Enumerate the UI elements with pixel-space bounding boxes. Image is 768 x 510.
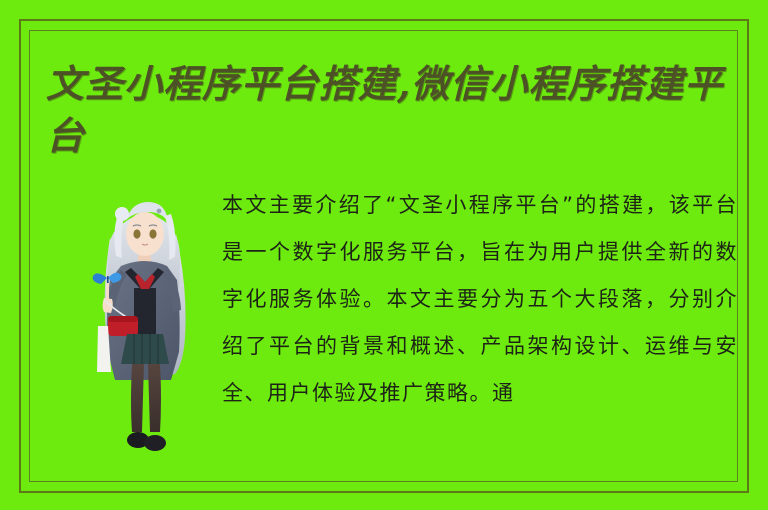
leg-right [148, 364, 161, 432]
face [126, 212, 164, 256]
anime-girl-illustration [64, 178, 224, 478]
skirt [121, 334, 169, 364]
leg-left [131, 364, 144, 432]
article-body: 本文主要介绍了“文圣小程序平台”的搭建，该平台是一个数字化服务平台，旨在为用户提… [222, 182, 738, 417]
poster-canvas: 文圣小程序平台搭建,微信小程序搭建平台 [0, 0, 768, 510]
hair-ornament [157, 209, 162, 214]
finger-pointing [106, 282, 109, 300]
bag-flap [108, 316, 138, 322]
page-title: 文圣小程序平台搭建,微信小程序搭建平台 [46, 58, 736, 162]
eye-left [133, 229, 140, 238]
hair-bun [115, 207, 129, 221]
eye-right [149, 229, 156, 238]
shoe-right [144, 435, 166, 451]
illustration-container [64, 178, 224, 478]
